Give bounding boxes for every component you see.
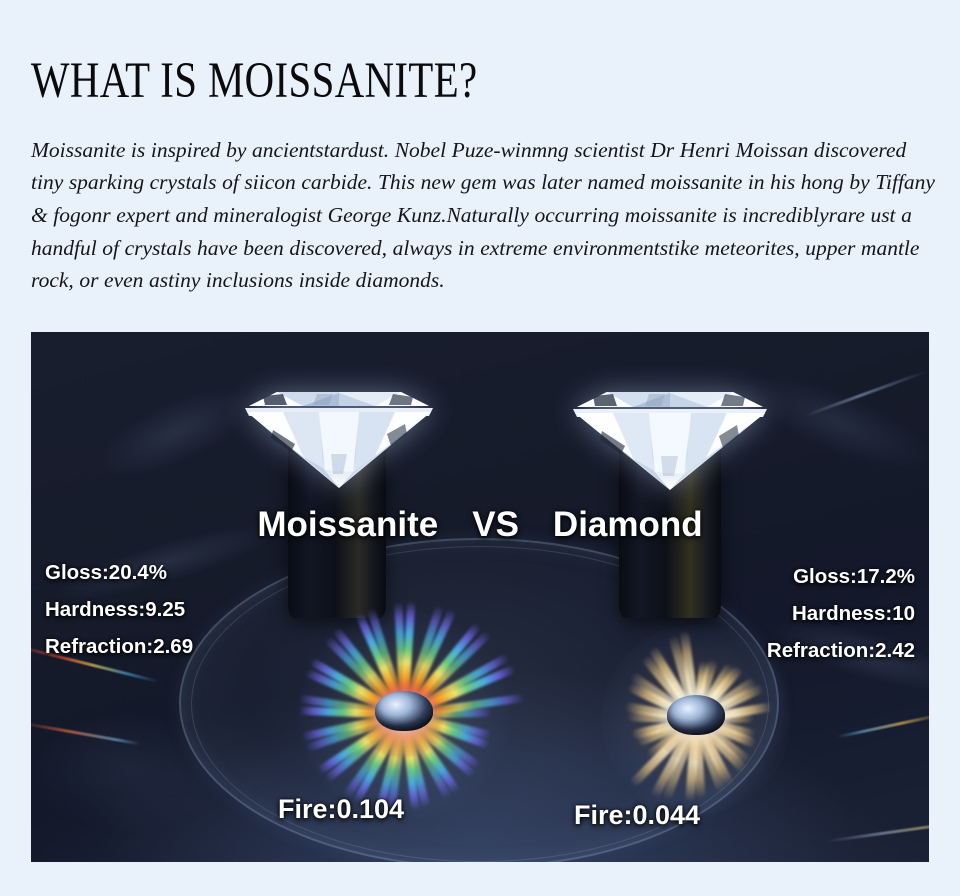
product-description-page: WHAT IS MOISSANITE? Moissanite is inspir…	[0, 0, 960, 896]
moissanite-gloss: Gloss:20.4%	[45, 554, 193, 591]
moissanite-refraction: Refraction:2.69	[45, 628, 193, 665]
label-versus: VS	[472, 504, 519, 546]
moissanite-mini-gem-icon	[375, 691, 433, 731]
diamond-fire-value: Fire:0.044	[574, 800, 700, 831]
diamond-gloss: Gloss:17.2%	[767, 558, 915, 595]
prism-streak-icon	[837, 713, 929, 739]
prism-streak-icon	[804, 370, 927, 417]
lens-flare-icon	[86, 370, 266, 494]
intro-paragraph: Moissanite is inspired by ancientstardus…	[31, 134, 936, 298]
moissanite-hardness: Hardness:9.25	[45, 591, 193, 628]
diamond-hardness: Hardness:10	[767, 595, 915, 632]
prism-streak-icon	[31, 722, 140, 746]
page-title: WHAT IS MOISSANITE?	[31, 52, 478, 110]
prism-streak-icon	[826, 820, 929, 842]
diamond-refraction: Refraction:2.42	[767, 632, 915, 669]
lens-flare-icon	[727, 355, 929, 489]
comparison-heading: MoissaniteVSDiamond	[31, 504, 929, 546]
diamond-mini-gem-icon	[667, 695, 725, 735]
moissanite-stats: Gloss:20.4% Hardness:9.25 Refraction:2.6…	[45, 554, 193, 665]
moissanite-vs-diamond-image: MoissaniteVSDiamond Gloss:20.4% Hardness…	[31, 332, 929, 862]
label-moissanite: Moissanite	[257, 504, 438, 546]
diamond-stats: Gloss:17.2% Hardness:10 Refraction:2.42	[767, 558, 915, 669]
label-diamond: Diamond	[553, 504, 703, 546]
moissanite-fire-value: Fire:0.104	[278, 794, 404, 825]
